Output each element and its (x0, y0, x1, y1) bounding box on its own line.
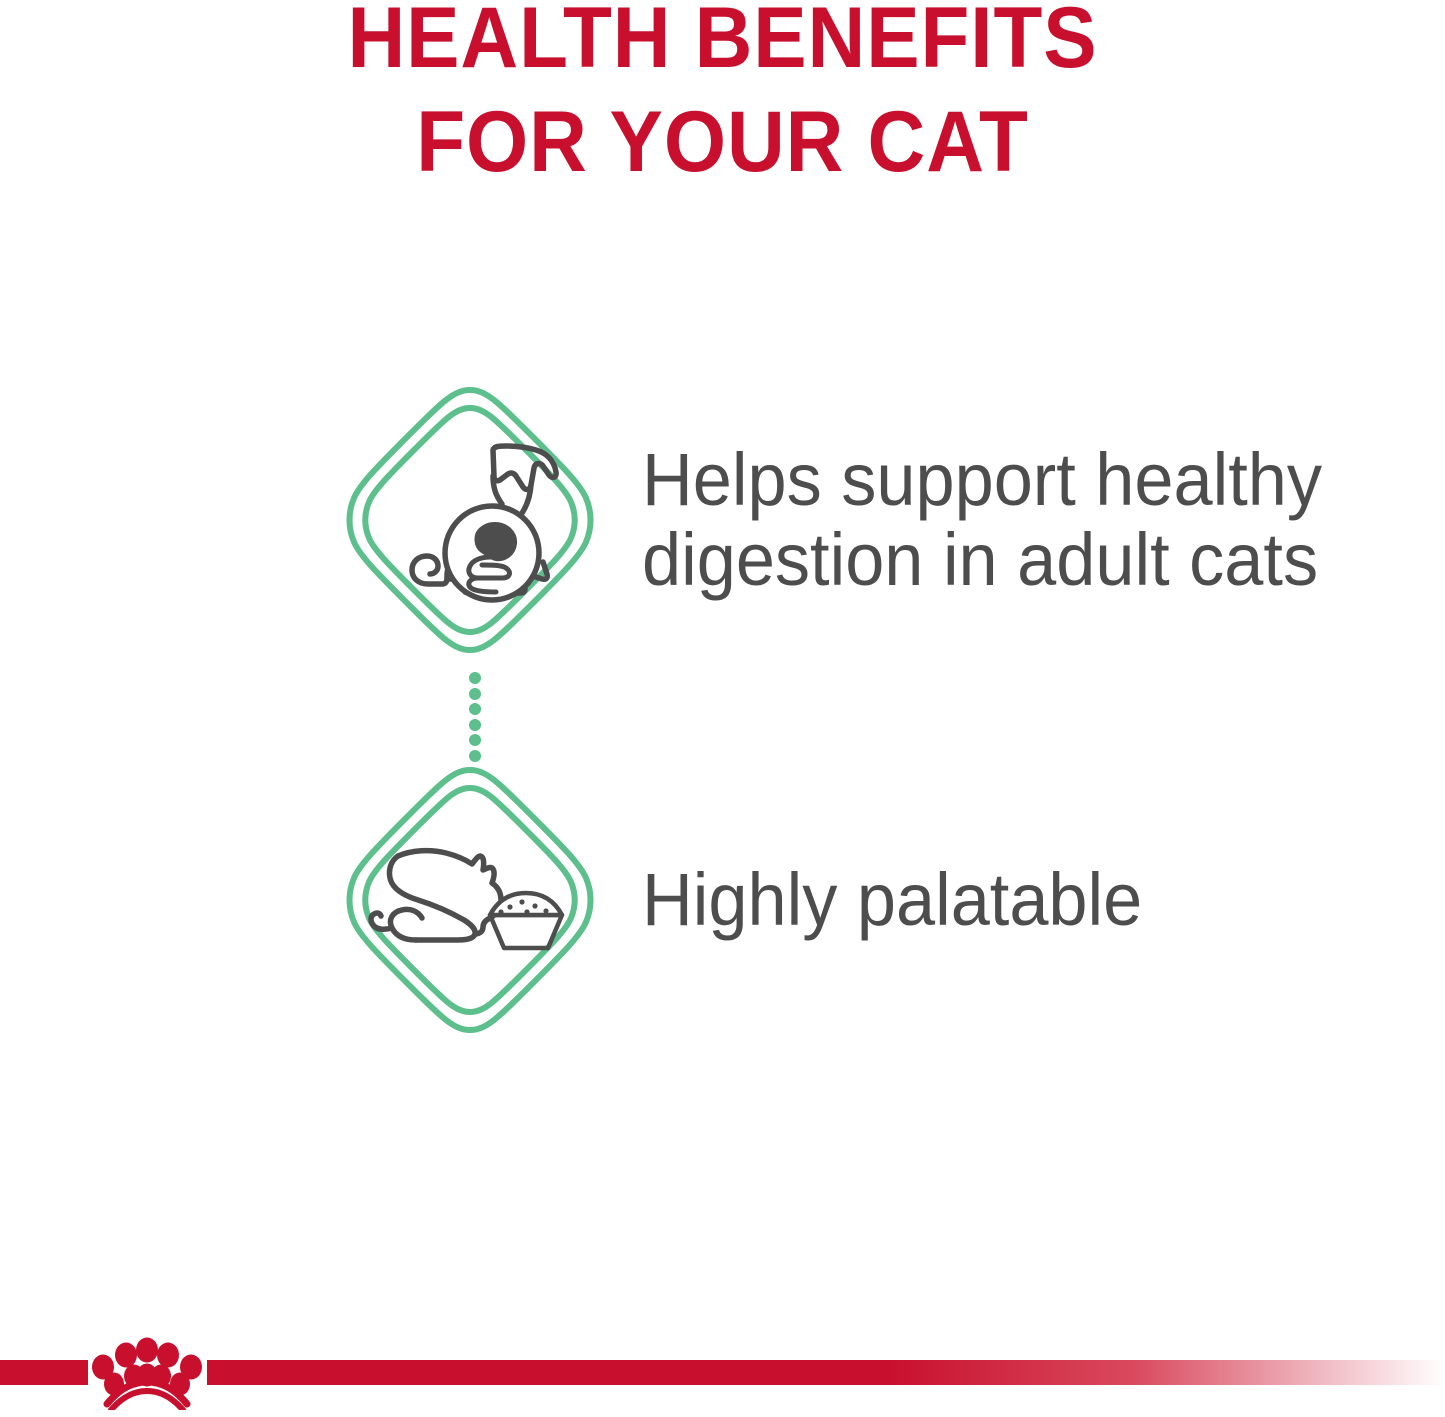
benefit-label-palatable: Highly palatable (642, 860, 1142, 940)
benefit-label-digestion: Helps support healthy digestion in adult… (642, 440, 1364, 600)
connector-dot (469, 672, 481, 684)
page-title-line-2: FOR YOUR CAT (51, 90, 1395, 194)
benefit-item-digestion: Helps support healthy digestion in adult… (0, 370, 1445, 670)
connector-dot (469, 719, 481, 731)
dotted-connector (460, 672, 490, 762)
benefit-item-palatable: Highly palatable (0, 750, 1445, 1050)
footer-rule-right (207, 1360, 1445, 1385)
royal-canin-crown-logo (86, 1336, 208, 1410)
footer-brand-bar (0, 1320, 1445, 1417)
connector-dot (469, 734, 481, 746)
cat-digestion-icon (320, 370, 620, 670)
connector-dot (469, 703, 481, 715)
page-title-line-1: HEALTH BENEFITS (51, 0, 1395, 90)
connector-dot (469, 750, 481, 762)
page-title: HEALTH BENEFITS FOR YOUR CAT (0, 0, 1445, 194)
benefits-list: Helps support healthy digestion in adult… (0, 370, 1445, 970)
footer-rule-left (0, 1360, 88, 1385)
cat-eating-bowl-icon (320, 750, 620, 1050)
connector-dot (469, 688, 481, 700)
